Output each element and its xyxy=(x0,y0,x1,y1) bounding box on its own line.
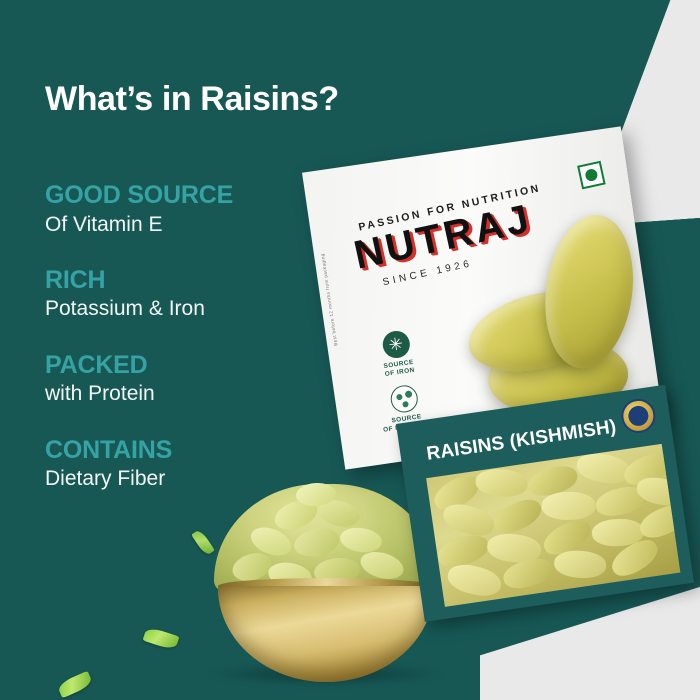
benefit-subtitle: with Protein xyxy=(45,380,345,408)
green-leaf-icon xyxy=(143,626,180,651)
badge-source-of-iron: SOURCE OF IRON xyxy=(354,325,440,382)
box-raisins-photo xyxy=(452,202,653,411)
benefit-subtitle: Potassium & Iron xyxy=(45,295,345,323)
benefits-list: GOOD SOURCE Of Vitamin E RICH Potassium … xyxy=(45,182,345,521)
pack-window-raisins xyxy=(426,444,680,607)
raisin-piece xyxy=(489,494,545,539)
raisin-heap xyxy=(214,476,438,594)
badge-label: SOURCE OF IRON xyxy=(359,355,440,382)
benefit-subtitle: Of Vitamin E xyxy=(45,211,345,239)
raisin-piece xyxy=(475,468,529,498)
benefit-title: PACKED xyxy=(45,352,345,379)
green-leaf-icon xyxy=(191,529,215,557)
green-leaf-icon xyxy=(56,671,93,699)
page-title: What’s in Raisins? xyxy=(45,80,339,119)
product-pack-lower: RAISINS (KISHMISH) xyxy=(396,385,694,622)
raisin-piece xyxy=(445,560,504,600)
quality-seal-icon xyxy=(619,397,658,436)
benefit-title: RICH xyxy=(45,267,345,294)
poster-canvas: What’s in Raisins? GOOD SOURCE Of Vitami… xyxy=(0,0,700,700)
benefit-item: RICH Potassium & Iron xyxy=(45,267,345,324)
benefit-title: GOOD SOURCE xyxy=(45,182,345,209)
benefit-item: PACKED with Protein xyxy=(45,352,345,409)
benefit-title: CONTAINS xyxy=(45,437,345,464)
iron-badge-icon xyxy=(381,329,412,360)
raisin-piece xyxy=(575,450,633,487)
raisin-piece xyxy=(542,492,596,520)
minerals-badge-icon xyxy=(388,384,419,415)
veg-mark-icon xyxy=(577,161,606,190)
raisin-piece xyxy=(553,549,607,579)
benefit-item: GOOD SOURCE Of Vitamin E xyxy=(45,182,345,239)
